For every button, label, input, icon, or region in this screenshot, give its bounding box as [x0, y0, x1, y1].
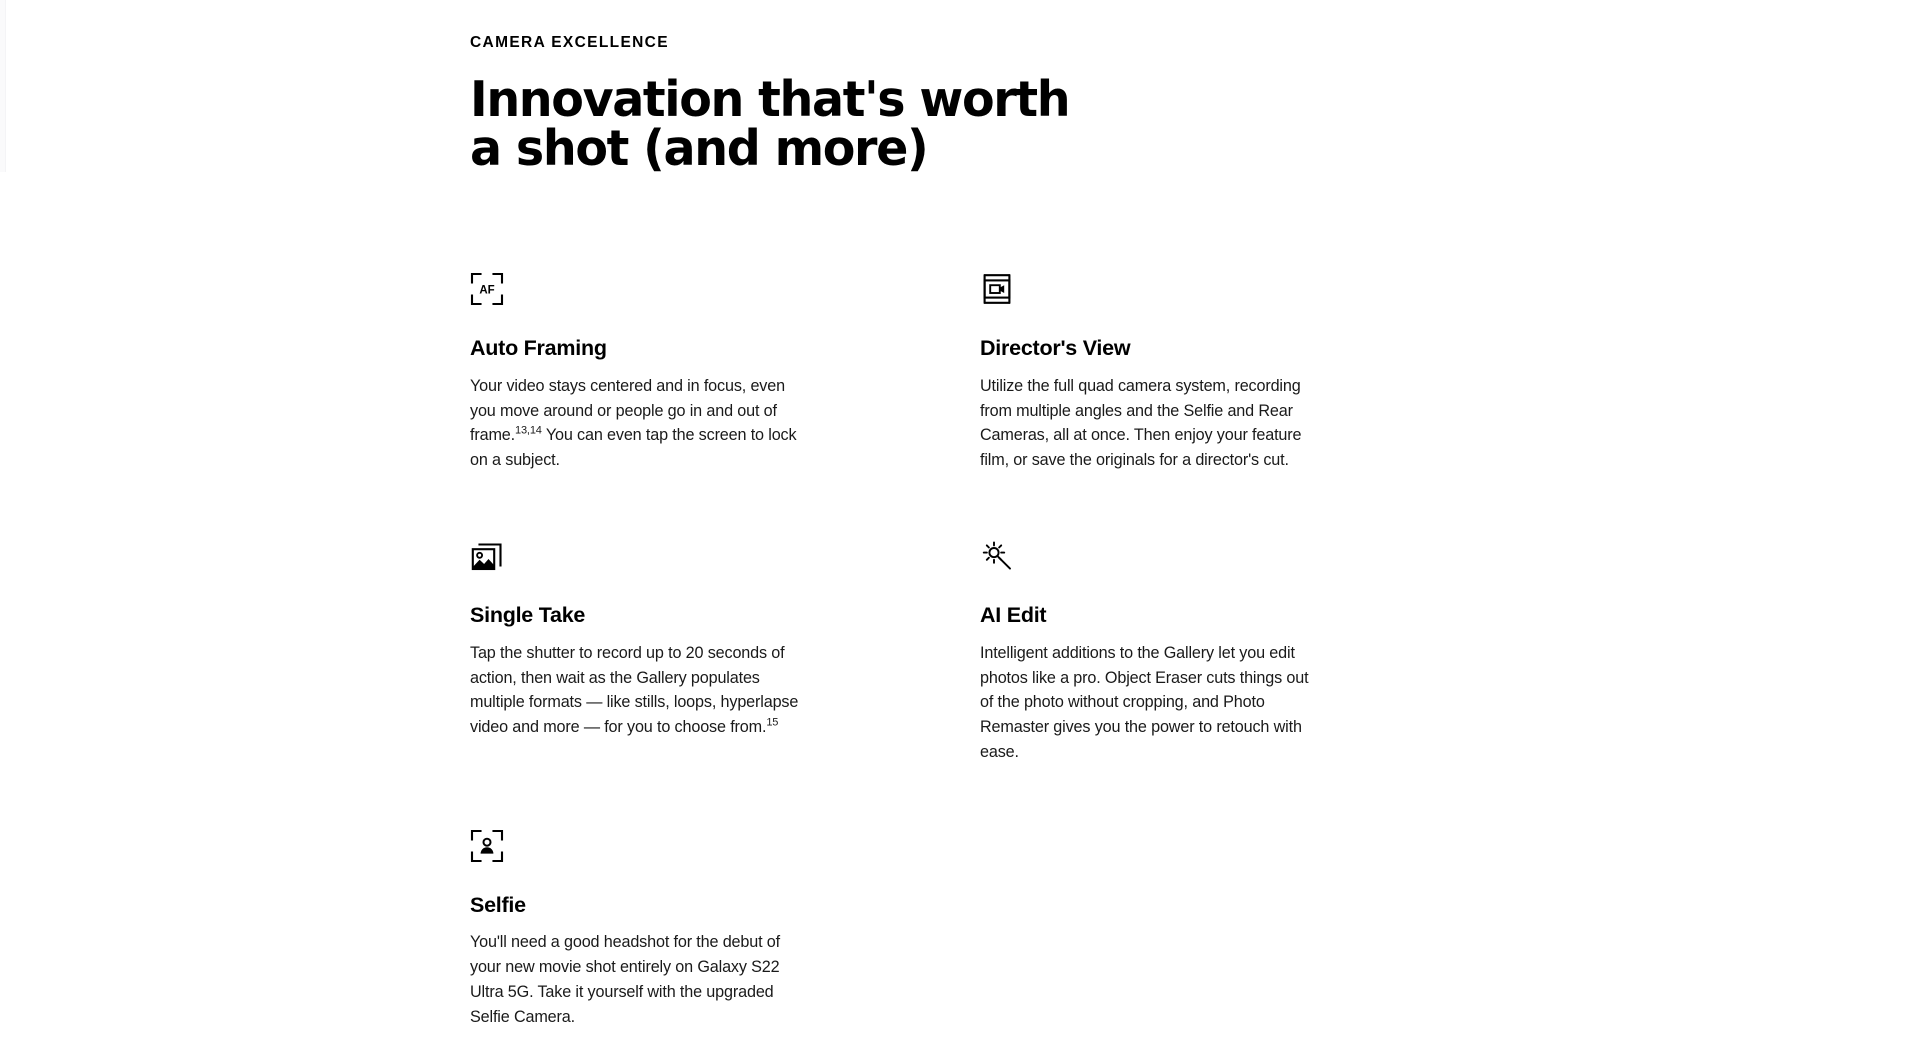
feature-title: Director's View — [980, 336, 1316, 362]
feature-body-text: Tap the shutter to record up to 20 secon… — [470, 644, 798, 736]
section-eyebrow: CAMERA EXCELLENCE — [470, 0, 1330, 53]
auto-framing-icon: AF — [470, 272, 810, 310]
feature-title: Single Take — [470, 603, 810, 629]
section-header: CAMERA EXCELLENCE Innovation that's wort… — [470, 0, 1330, 173]
svg-text:AF: AF — [479, 285, 494, 297]
ai-edit-icon — [980, 539, 1316, 577]
headline-line-2: a shot (and more) — [470, 124, 1091, 173]
feature-body: You'll need a good headshot for the debu… — [470, 930, 810, 1029]
feature-body: Your video stays centered and in focus, … — [470, 374, 810, 473]
feature-body: Utilize the full quad camera system, rec… — [980, 374, 1316, 473]
feature-card-directors-view: Director's View Utilize the full quad ca… — [980, 272, 1316, 473]
footnote-ref: 15 — [766, 717, 778, 729]
camera-excellence-section: CAMERA EXCELLENCE Innovation that's wort… — [0, 0, 1920, 1056]
page-title: Innovation that's worth a shot (and more… — [470, 53, 1091, 173]
empty-cell — [980, 829, 1392, 1030]
feature-card-single-take: Single Take Tap the shutter to record up… — [470, 539, 810, 765]
feature-card-ai-edit: AI Edit Intelligent additions to the Gal… — [980, 539, 1316, 765]
headline-line-1: Innovation that's worth — [470, 75, 1091, 124]
footnote-ref: 13,14 — [515, 425, 542, 437]
feature-title: AI Edit — [980, 603, 1316, 629]
directors-view-icon — [980, 272, 1316, 310]
row-gap-1 — [470, 473, 1392, 539]
selfie-icon — [470, 829, 810, 867]
single-take-icon — [470, 539, 810, 577]
feature-body: Tap the shutter to record up to 20 secon… — [470, 641, 810, 740]
feature-title: Selfie — [470, 893, 810, 919]
feature-card-auto-framing: AF Auto Framing Your video stays centere… — [470, 272, 810, 473]
feature-card-selfie: Selfie You'll need a good headshot for t… — [470, 829, 810, 1030]
feature-title: Auto Framing — [470, 336, 810, 362]
feature-body: Intelligent additions to the Gallery let… — [980, 641, 1316, 765]
row-gap-2 — [470, 765, 1392, 829]
feature-grid: AF Auto Framing Your video stays centere… — [470, 272, 1350, 1030]
